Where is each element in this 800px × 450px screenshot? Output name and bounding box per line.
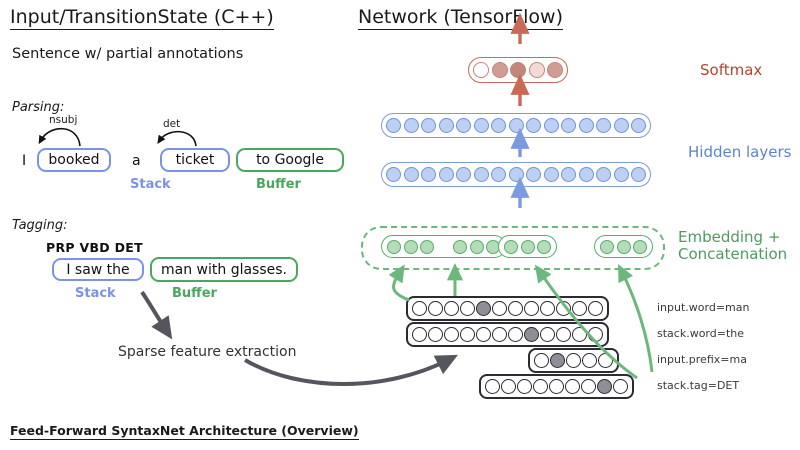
embedding-group-2 <box>594 235 653 258</box>
hidden-node-0-3 <box>439 118 454 133</box>
sparse-feature-extraction-note: Sparse feature extraction <box>118 344 296 360</box>
sparse-node-1-1 <box>428 327 443 342</box>
hidden-node-0-8 <box>526 118 541 133</box>
parsing-stack-text-ticket: ticket <box>176 152 215 168</box>
embedding-node-1-0-1 <box>521 240 535 254</box>
sparse-node-3-5 <box>565 379 580 394</box>
sparse-node-1-6 <box>508 327 523 342</box>
hidden-node-1-9 <box>544 167 559 182</box>
sparse-node-1-3 <box>460 327 475 342</box>
sparse-feature-label-1: stack.word=the <box>657 327 744 340</box>
hidden-node-0-12 <box>596 118 611 133</box>
sparse-feature-label-2: input.prefix=ma <box>657 353 747 366</box>
sparse-node-1-9 <box>556 327 571 342</box>
parsing-buffer-box: to Google <box>236 148 344 172</box>
tagging-stack-text: I saw the <box>66 262 129 278</box>
sparse-node-0-0 <box>412 301 427 316</box>
sparse-node-2-4 <box>598 353 613 368</box>
label-embedding: Embedding + Concatenation <box>678 229 787 264</box>
hidden-node-1-2 <box>421 167 436 182</box>
tagging-buffer-box: man with glasses. <box>150 257 298 282</box>
label-embedding-line1: Embedding + <box>678 229 787 246</box>
sparse-node-2-3 <box>582 353 597 368</box>
sparse-node-active-1 <box>524 327 539 342</box>
hidden-node-0-0 <box>386 118 401 133</box>
label-hidden-layers: Hidden layers <box>688 144 791 161</box>
arrow-sparse-to-features <box>245 360 448 384</box>
embedding-node-2-0-1 <box>617 240 631 254</box>
embedding-node-0-0-0 <box>387 240 401 254</box>
sparse-node-3-8 <box>613 379 628 394</box>
sparse-feature-row-2 <box>528 348 619 373</box>
parsing-stack-text-booked: booked <box>48 152 99 168</box>
sparse-node-3-0 <box>485 379 500 394</box>
sparse-node-0-5 <box>492 301 507 316</box>
parsing-label: Parsing: <box>12 100 64 115</box>
sparse-node-1-5 <box>492 327 507 342</box>
hidden-node-0-7 <box>509 118 524 133</box>
figure-caption: Feed-Forward SyntaxNet Architecture (Ove… <box>10 423 359 440</box>
hidden-node-1-14 <box>631 167 646 182</box>
tagging-buffer-text: man with glasses. <box>161 262 287 278</box>
tagging-stack-box: I saw the <box>52 258 144 281</box>
tagging-pos-tags: PRP VBD DET <box>46 240 143 255</box>
hidden-layer-top <box>381 113 651 138</box>
hidden-layer-bottom <box>381 162 651 187</box>
sparse-node-0-11 <box>588 301 603 316</box>
dep-arc-label-det: det <box>163 118 180 130</box>
sparse-feature-row-1 <box>406 322 609 347</box>
hidden-node-1-5 <box>474 167 489 182</box>
hidden-node-1-1 <box>404 167 419 182</box>
embedding-node-1-0-0 <box>504 240 518 254</box>
sparse-node-0-6 <box>508 301 523 316</box>
sparse-node-1-10 <box>572 327 587 342</box>
hidden-node-1-0 <box>386 167 401 182</box>
hidden-node-0-10 <box>561 118 576 133</box>
embedding-node-0-0-2 <box>420 240 434 254</box>
hidden-node-1-11 <box>579 167 594 182</box>
softmax-layer <box>468 57 568 83</box>
parsing-token-i: I <box>22 153 26 169</box>
sparse-node-3-1 <box>501 379 516 394</box>
embedding-node-2-0-0 <box>600 240 614 254</box>
dep-arc-nsubj <box>41 129 80 146</box>
embedding-node-0-1-0 <box>453 240 467 254</box>
right-panel-title: Network (TensorFlow) <box>358 6 563 30</box>
sparse-feature-row-0 <box>406 296 609 321</box>
arrow-feature-0-to-embedding <box>394 272 409 300</box>
sparse-node-0-7 <box>524 301 539 316</box>
hidden-node-1-6 <box>491 167 506 182</box>
sparse-node-1-2 <box>444 327 459 342</box>
hidden-node-0-5 <box>474 118 489 133</box>
sparse-node-0-8 <box>540 301 555 316</box>
diagram-canvas: Input/TransitionState (C++) Sentence w/ … <box>0 0 800 450</box>
dep-arc-label-nsubj: nsubj <box>49 114 77 126</box>
sparse-node-active-3 <box>597 379 612 394</box>
softmax-node-0 <box>473 62 489 78</box>
hidden-node-0-14 <box>631 118 646 133</box>
embedding-group-0 <box>381 235 506 258</box>
hidden-node-0-9 <box>544 118 559 133</box>
embedding-node-0-0-1 <box>404 240 418 254</box>
hidden-node-1-4 <box>456 167 471 182</box>
parsing-stack-box-ticket: ticket <box>160 148 230 172</box>
arrow-feature-2-to-embedding <box>622 272 652 372</box>
left-panel-subtitle: Sentence w/ partial annotations <box>12 46 243 62</box>
sparse-node-active-0 <box>476 301 491 316</box>
parsing-buffer-text: to Google <box>256 152 324 168</box>
sparse-node-1-11 <box>588 327 603 342</box>
left-panel-title: Input/TransitionState (C++) <box>10 6 274 30</box>
softmax-node-4 <box>547 62 563 78</box>
embedding-node-0-1-1 <box>470 240 484 254</box>
sparse-node-0-9 <box>556 301 571 316</box>
sparse-node-0-10 <box>572 301 587 316</box>
sparse-node-3-6 <box>581 379 596 394</box>
tagging-buffer-label: Buffer <box>172 286 217 301</box>
dep-arc-det <box>160 132 196 146</box>
hidden-node-1-13 <box>614 167 629 182</box>
softmax-node-1 <box>492 62 508 78</box>
sparse-node-3-3 <box>533 379 548 394</box>
label-softmax: Softmax <box>700 62 762 79</box>
sparse-feature-row-3 <box>479 374 634 399</box>
sparse-feature-label-3: stack.tag=DET <box>657 379 739 392</box>
parsing-stack-box-booked: booked <box>37 148 111 172</box>
softmax-node-2 <box>510 62 526 78</box>
hidden-node-0-2 <box>421 118 436 133</box>
sparse-node-3-4 <box>549 379 564 394</box>
embedding-group-1 <box>498 235 557 258</box>
parsing-buffer-label: Buffer <box>256 177 301 192</box>
softmax-node-3 <box>529 62 545 78</box>
sparse-node-2-0 <box>534 353 549 368</box>
embedding-node-1-0-2 <box>537 240 551 254</box>
hidden-node-1-8 <box>526 167 541 182</box>
hidden-node-1-3 <box>439 167 454 182</box>
embedding-node-2-0-2 <box>633 240 647 254</box>
hidden-node-0-6 <box>491 118 506 133</box>
hidden-node-0-4 <box>456 118 471 133</box>
sparse-node-1-4 <box>476 327 491 342</box>
sparse-node-1-8 <box>540 327 555 342</box>
sparse-node-active-2 <box>550 353 565 368</box>
arrow-to-sparse-extraction <box>142 292 166 330</box>
sparse-node-0-2 <box>444 301 459 316</box>
hidden-node-0-13 <box>614 118 629 133</box>
sparse-node-3-2 <box>517 379 532 394</box>
hidden-node-0-1 <box>404 118 419 133</box>
sparse-node-0-3 <box>460 301 475 316</box>
sparse-node-0-1 <box>428 301 443 316</box>
sparse-node-1-0 <box>412 327 427 342</box>
parsing-token-a: a <box>132 153 141 169</box>
tagging-stack-label: Stack <box>75 286 116 301</box>
hidden-node-0-11 <box>579 118 594 133</box>
sparse-feature-label-0: input.word=man <box>657 301 749 314</box>
tagging-label: Tagging: <box>12 218 68 233</box>
label-embedding-line2: Concatenation <box>678 246 787 263</box>
parsing-stack-label: Stack <box>130 177 171 192</box>
hidden-node-1-7 <box>509 167 524 182</box>
hidden-node-1-12 <box>596 167 611 182</box>
sparse-node-2-2 <box>566 353 581 368</box>
hidden-node-1-10 <box>561 167 576 182</box>
